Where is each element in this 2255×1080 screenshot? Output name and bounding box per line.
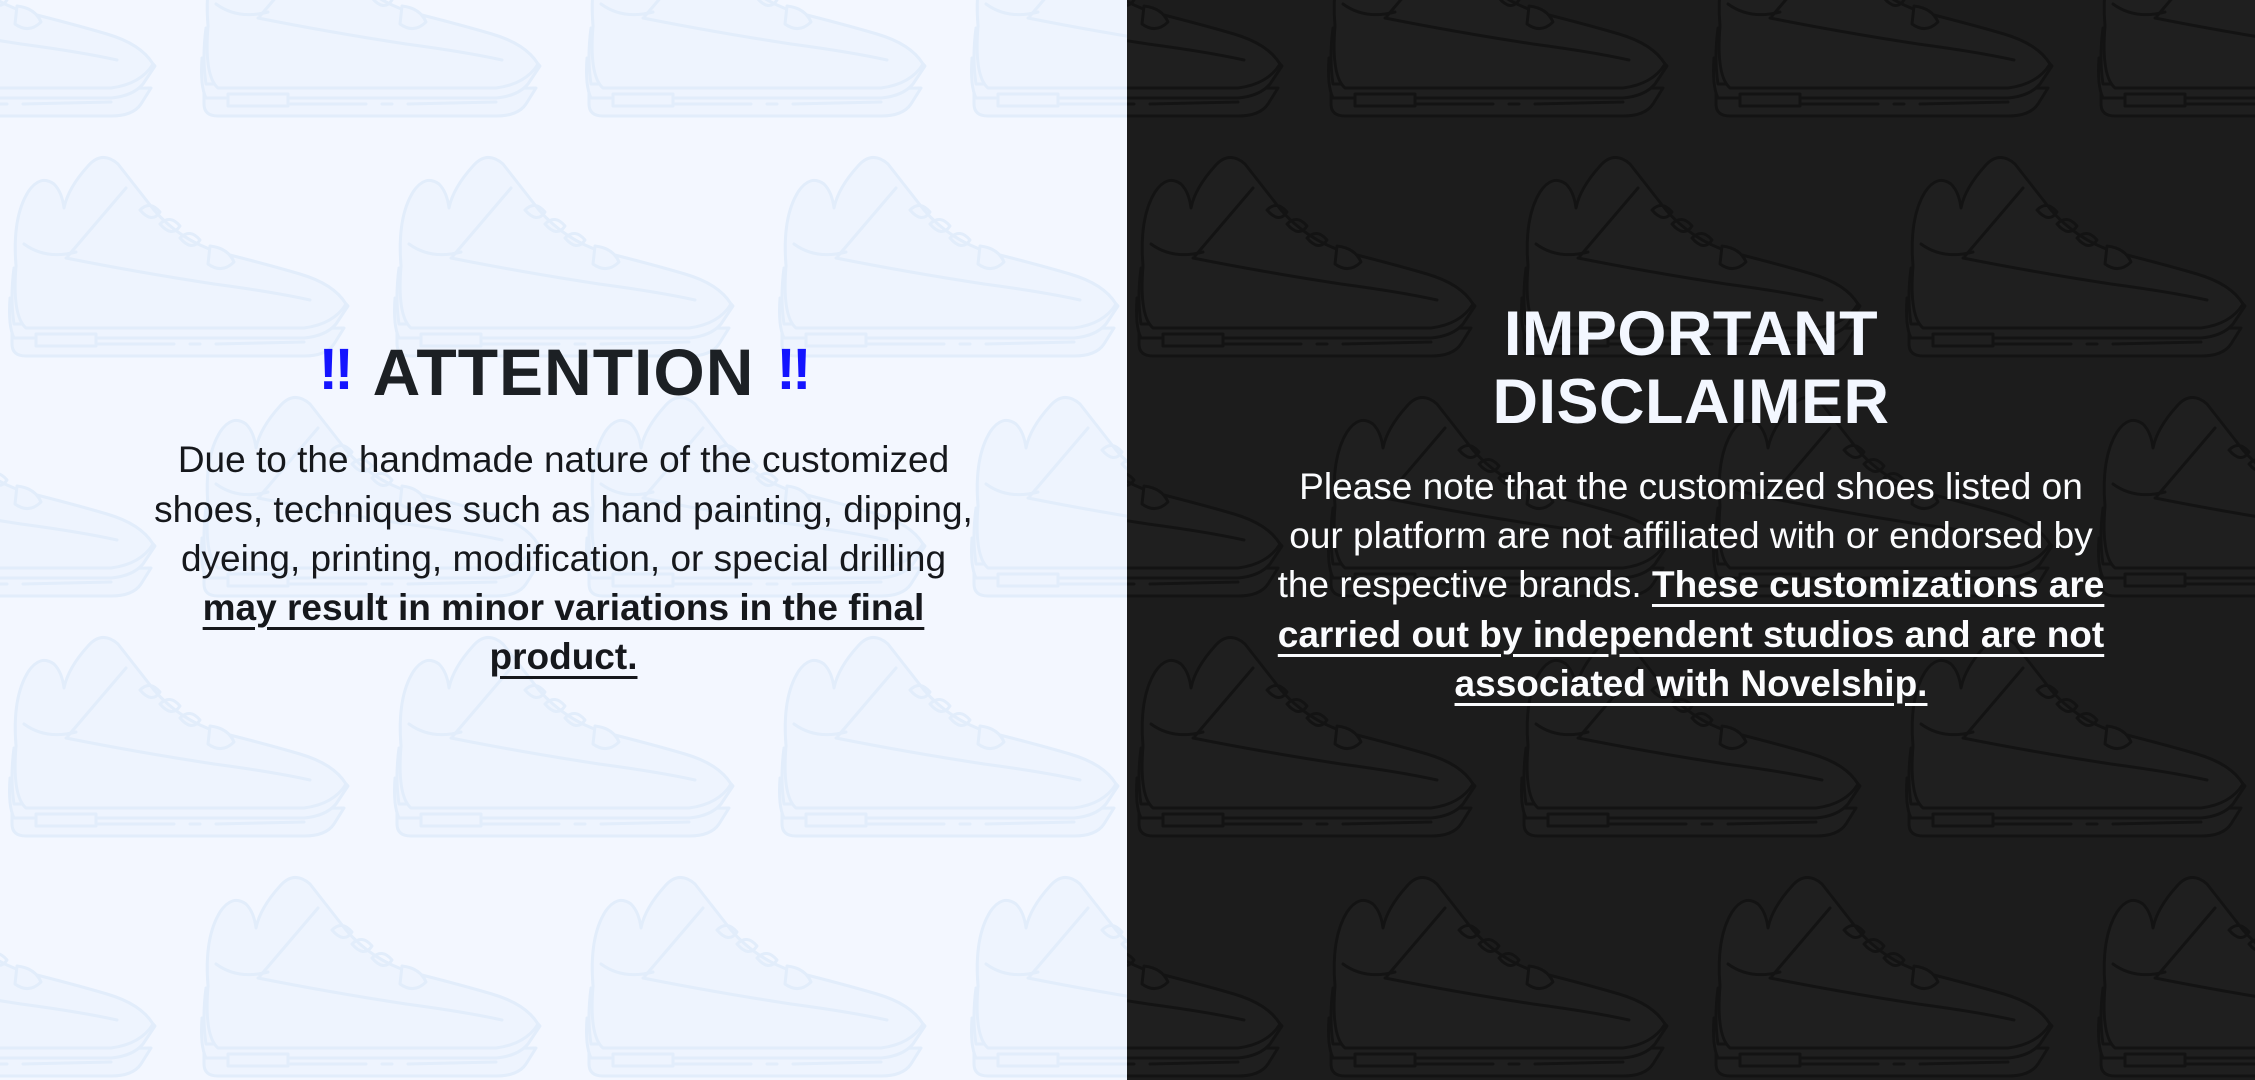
attention-body: Due to the handmade nature of the custom…	[149, 435, 979, 681]
disclaimer-heading: IMPORTANT DISCLAIMER	[1493, 300, 1890, 436]
disclaimer-panel: IMPORTANT DISCLAIMER Please note that th…	[1127, 0, 2255, 1080]
disclaimer-heading-line-2: DISCLAIMER	[1493, 368, 1890, 436]
disclaimer-body: Please note that the customized shoes li…	[1276, 462, 2106, 708]
double-exclamation-icon-right: ‼	[776, 340, 808, 401]
attention-heading: ‼ ATTENTION ‼	[319, 338, 809, 407]
attention-panel: ‼ ATTENTION ‼ Due to the handmade nature…	[0, 0, 1127, 1080]
attention-body-normal: Due to the handmade nature of the custom…	[154, 439, 973, 578]
attention-heading-text: ATTENTION	[373, 338, 755, 407]
disclaimer-heading-line-1: IMPORTANT	[1493, 300, 1890, 368]
double-exclamation-icon-left: ‼	[319, 340, 351, 401]
attention-body-emphasis: may result in minor variations in the fi…	[203, 587, 925, 677]
